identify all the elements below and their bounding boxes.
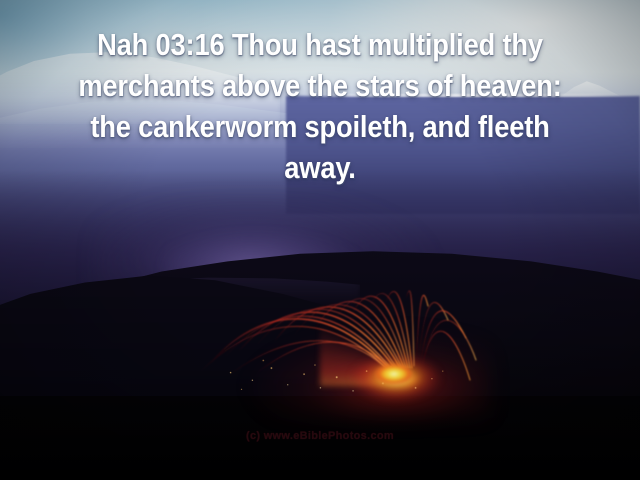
verse-line-3: the cankerworm spoileth, and fleeth [51, 106, 590, 147]
verse-image-scene: Nah 03:16 Thou hast multiplied thy merch… [0, 0, 640, 480]
verse-text-block: Nah 03:16 Thou hast multiplied thy merch… [0, 24, 640, 188]
lava-vent [372, 360, 416, 386]
watermark-credit: (c) www.eBiblePhotos.com [0, 430, 640, 442]
verse-line-2: merchants above the stars of heaven: [51, 65, 590, 106]
volcanic-eruption [170, 268, 500, 418]
verse-line-4: away. [51, 147, 590, 188]
verse-line-1: Nah 03:16 Thou hast multiplied thy [51, 24, 590, 65]
